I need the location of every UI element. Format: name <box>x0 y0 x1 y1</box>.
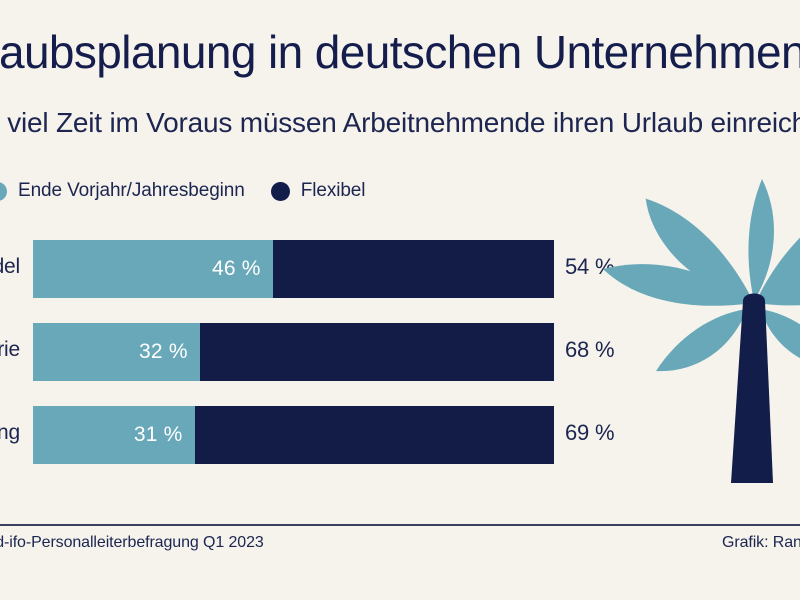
bar-segment-ende-vorjahr: 46 % <box>33 240 273 298</box>
legend-item-label: Flexibel <box>301 180 366 202</box>
bar-segment-value: 46 % <box>212 257 261 281</box>
footer-divider <box>0 524 800 526</box>
chart-bar: 31 % <box>33 406 554 464</box>
chart-row-dienstleistung: Dienstleistung 31 % 69 % <box>0 402 800 464</box>
footer-credit: Grafik: Randstad <box>722 534 800 552</box>
bar-segment-value: 32 % <box>139 340 188 364</box>
chart-row-label: Handel <box>0 236 20 298</box>
bar-segment-flexibel <box>195 406 554 464</box>
bar-end-value: 68 % <box>565 319 614 381</box>
stacked-bar-chart: Handel 46 % 54 % Industrie 32 % 68 % Die… <box>0 232 800 487</box>
infographic-canvas: Urlaubsplanung in deutschen Unternehmen … <box>0 0 800 600</box>
legend-item-flexibel: Flexibel <box>271 180 366 202</box>
chart-row-label: Industrie <box>0 319 20 381</box>
legend-item-ende-vorjahr: Ende Vorjahr/Jahresbeginn <box>0 180 245 202</box>
legend-dot-icon <box>0 182 7 201</box>
chart-bar: 46 % <box>33 240 554 298</box>
chart-row-industrie: Industrie 32 % 68 % <box>0 319 800 381</box>
chart-legend: Ende Vorjahr/Jahresbeginn Flexibel <box>0 180 365 202</box>
page-title: Urlaubsplanung in deutschen Unternehmen <box>0 24 800 80</box>
bar-segment-ende-vorjahr: 31 % <box>33 406 195 464</box>
bar-segment-flexibel <box>273 240 554 298</box>
bar-end-value: 69 % <box>565 402 614 464</box>
page-subtitle: Wie viel Zeit im Voraus müssen Arbeitneh… <box>0 104 800 142</box>
chart-row-handel: Handel 46 % 54 % <box>0 236 800 298</box>
chart-row-label: Dienstleistung <box>0 402 20 464</box>
legend-dot-icon <box>271 182 290 201</box>
legend-item-label: Ende Vorjahr/Jahresbeginn <box>18 180 245 202</box>
footer-source: Quelle: Randstad-ifo-Personalleiterbefra… <box>0 534 264 552</box>
bar-end-value: 54 % <box>565 236 614 298</box>
bar-segment-value: 31 % <box>134 423 183 447</box>
bar-segment-flexibel <box>200 323 554 381</box>
bar-segment-ende-vorjahr: 32 % <box>33 323 200 381</box>
chart-bar: 32 % <box>33 323 554 381</box>
